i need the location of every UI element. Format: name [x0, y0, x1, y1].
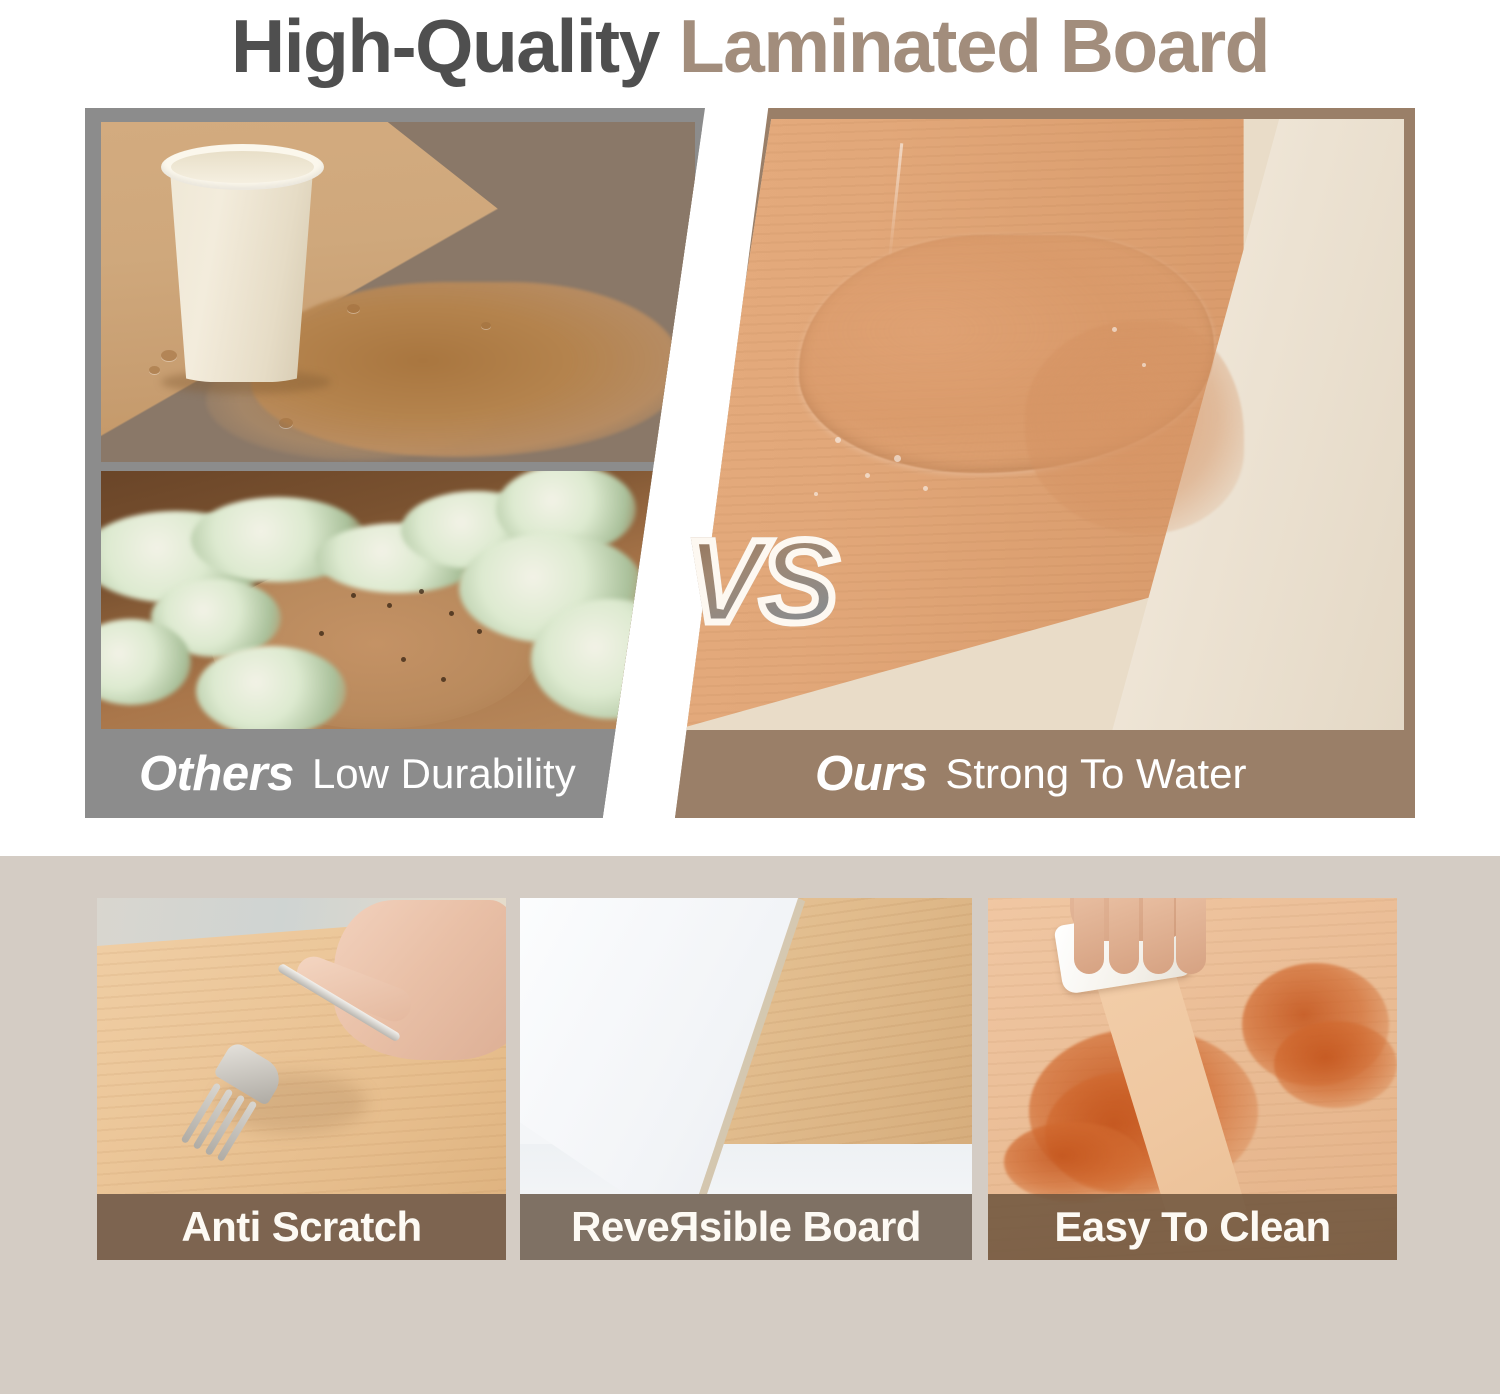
mold-damage-photo [101, 471, 671, 729]
water-bead [923, 486, 928, 491]
sauce-stain [1274, 1021, 1397, 1108]
ours-subtitle: Strong To Water [945, 750, 1246, 798]
feature-label-easy-to-clean: Easy To Clean [988, 1194, 1397, 1260]
others-subtitle: Low Durability [312, 750, 576, 798]
feature-card-anti-scratch: Anti Scratch [97, 898, 506, 1260]
finger [1074, 898, 1104, 974]
mold-spot [351, 593, 356, 598]
mold-spot [401, 657, 406, 662]
vs-badge: VS [685, 523, 834, 641]
liquid-droplet [161, 350, 177, 361]
cup-interior [171, 151, 314, 183]
feature-label-reversible-board: ReveЯsible Board [520, 1194, 972, 1260]
feature-card-reversible-board: ReveЯsible Board [520, 898, 972, 1260]
liquid-droplet [149, 366, 160, 374]
liquid-droplet [279, 418, 293, 428]
finger [1176, 898, 1206, 974]
feature-label-anti-scratch: Anti Scratch [97, 1194, 506, 1260]
finger [1109, 898, 1139, 974]
water-bead [814, 492, 818, 496]
comparison-section: Others Low Durability Ours Strong To Wat… [85, 108, 1415, 818]
mold-patch [196, 646, 346, 729]
feature-card-easy-to-clean: Easy To Clean [988, 898, 1397, 1260]
ours-panel: Ours Strong To Water [675, 108, 1415, 818]
page-title: High-Quality Laminated Board [0, 0, 1500, 92]
mold-spot [449, 611, 454, 616]
ours-title: Ours [815, 746, 927, 802]
water-bead [894, 455, 901, 462]
mold-spot [387, 603, 392, 608]
liquid-droplet [481, 322, 491, 329]
finger [1143, 898, 1173, 974]
paper-cup-spill-photo [101, 122, 695, 462]
page-title-part1: High-Quality [231, 3, 659, 89]
water-bead [865, 473, 870, 478]
ours-caption-band: Ours Strong To Water [675, 730, 1404, 818]
mold-patch [531, 599, 671, 719]
page-title-part2: Laminated Board [679, 3, 1269, 89]
features-section: Anti Scratch ReveЯsible Board Easy To Cl [0, 856, 1500, 1394]
others-panel-inner: Others Low Durability [88, 111, 702, 818]
others-caption-band: Others Low Durability [91, 730, 702, 818]
mold-spot [319, 631, 324, 636]
others-panel: Others Low Durability [85, 108, 705, 818]
spill-puddle [251, 282, 681, 457]
mold-spot [477, 629, 482, 634]
mold-spot [441, 677, 446, 682]
sauce-stain [1004, 1122, 1143, 1202]
paper-cup [169, 157, 314, 382]
mold-spot [419, 589, 424, 594]
liquid-droplet [347, 304, 360, 313]
others-title: Others [139, 746, 294, 802]
